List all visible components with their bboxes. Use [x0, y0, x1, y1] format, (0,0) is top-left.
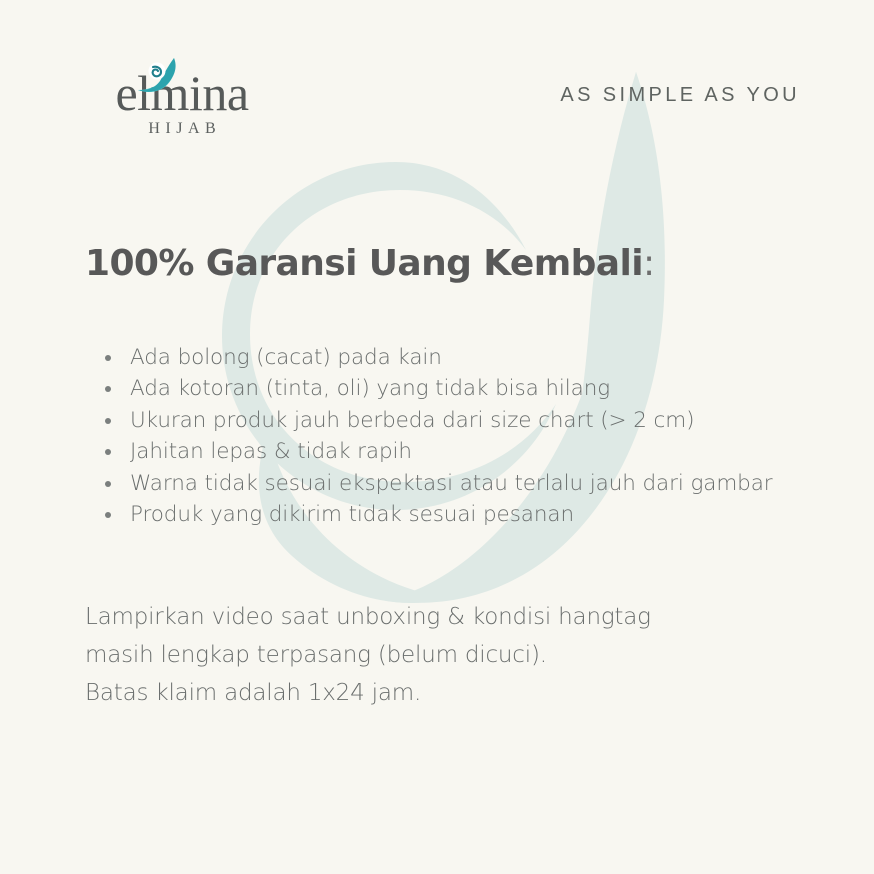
- claim-instructions-line: Batas klaim adalah 1x24 jam.: [85, 674, 825, 712]
- warranty-condition-list: Ada bolong (cacat) pada kain Ada kotoran…: [96, 342, 796, 530]
- list-item-label: Ada kotoran (tinta, oli) yang tidak bisa…: [130, 376, 610, 401]
- bullet-dot-icon: [105, 355, 111, 361]
- page-title: 100% Garansi Uang Kembali:: [85, 243, 655, 284]
- list-item: Ada bolong (cacat) pada kain: [96, 342, 796, 373]
- list-item-label: Ukuran produk jauh berbeda dari size cha…: [130, 408, 694, 433]
- list-item-label: Warna tidak sesuai ekspektasi atau terla…: [130, 471, 773, 496]
- list-item-label: Ada bolong (cacat) pada kain: [130, 345, 442, 370]
- bullet-dot-icon: [105, 386, 111, 392]
- list-item: Ada kotoran (tinta, oli) yang tidak bisa…: [96, 373, 796, 404]
- claim-instructions-line: masih lengkap terpasang (belum dicuci).: [85, 636, 825, 674]
- claim-instructions-line: Lampirkan video saat unboxing & kondisi …: [85, 598, 825, 636]
- list-item: Warna tidak sesuai ekspektasi atau terla…: [96, 468, 796, 499]
- list-item: Produk yang dikirim tidak sesuai pesanan: [96, 499, 796, 530]
- content: 100% Garansi Uang Kembali: Ada bolong (c…: [0, 0, 874, 874]
- bullet-dot-icon: [105, 481, 111, 487]
- list-item: Ukuran produk jauh berbeda dari size cha…: [96, 405, 796, 436]
- page-title-colon: :: [643, 243, 655, 284]
- page-title-text: 100% Garansi Uang Kembali: [85, 243, 643, 284]
- bullet-dot-icon: [105, 418, 111, 424]
- claim-instructions: Lampirkan video saat unboxing & kondisi …: [85, 598, 825, 712]
- poster-canvas: elmina HIJAB AS SIMPLE AS YOU 100% Garan…: [0, 0, 874, 874]
- bullet-dot-icon: [105, 449, 111, 455]
- list-item: Jahitan lepas & tidak rapih: [96, 436, 796, 467]
- bullet-dot-icon: [105, 512, 111, 518]
- list-item-label: Produk yang dikirim tidak sesuai pesanan: [130, 502, 574, 527]
- list-item-label: Jahitan lepas & tidak rapih: [130, 439, 412, 464]
